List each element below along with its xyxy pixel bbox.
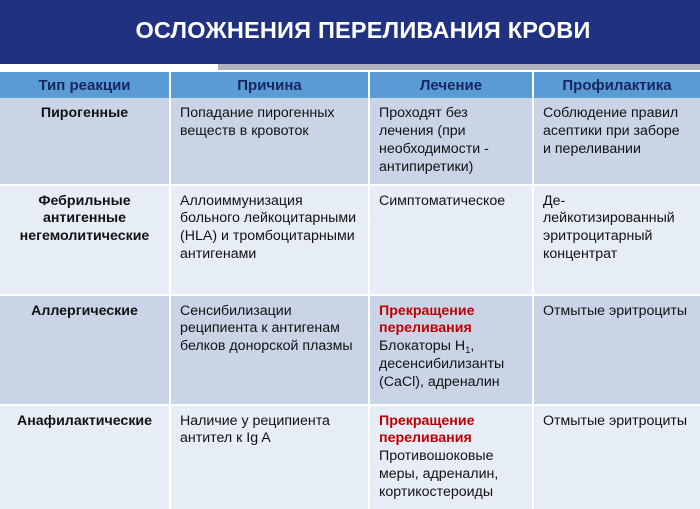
cell-cause: Попадание пирогенных веществ в кровоток: [170, 98, 369, 185]
cell-prevention: Соблюдение правил асептики при заборе и …: [533, 98, 700, 185]
cell-treatment: Проходят без лечения (при необходимости …: [369, 98, 533, 185]
subscript-one: 1: [465, 345, 470, 356]
cell-treatment-emphasis: Прекращение переливания: [379, 413, 523, 449]
cell-cause: Наличие у реципиента антител к Ig A: [170, 405, 369, 509]
cell-prevention: Отмытые эритроциты: [533, 405, 700, 509]
cell-treatment: Прекращение переливания Блокаторы Н1, де…: [369, 295, 533, 405]
table-row: Аллергические Сенсибилизации реципиента …: [0, 295, 700, 405]
column-header-treatment[interactable]: Лечение: [369, 72, 533, 98]
title-banner: ОСЛОЖНЕНИЯ ПЕРЕЛИВАНИЯ КРОВИ: [0, 0, 700, 64]
slide-canvas: ОСЛОЖНЕНИЯ ПЕРЕЛИВАНИЯ КРОВИ Тип реакции…: [0, 0, 700, 508]
table-row: Фебрильные антигенные негемолитические А…: [0, 185, 700, 295]
cell-treatment-emphasis: Прекращение переливания: [379, 303, 523, 339]
complications-table: Тип реакции Причина Лечение Профилактика…: [0, 72, 700, 509]
table-row: Пирогенные Попадание пирогенных веществ …: [0, 98, 700, 185]
cell-cause: Аллоиммунизация больного лейкоцитарными …: [170, 185, 369, 295]
cell-treatment-text: Противошоковые меры, адреналин, кортикос…: [379, 448, 523, 502]
cell-treatment: Симптоматическое: [369, 185, 533, 295]
column-header-cause[interactable]: Причина: [170, 72, 369, 98]
cell-prevention: Отмытые эритроциты: [533, 295, 700, 405]
cell-cause: Сенсибилизации реципиента к антигенам бе…: [170, 295, 369, 405]
page-title: ОСЛОЖНЕНИЯ ПЕРЕЛИВАНИЯ КРОВИ: [135, 17, 590, 44]
column-header-type[interactable]: Тип реакции: [0, 72, 170, 98]
table-row: Анафилактические Наличие у реципиента ан…: [0, 405, 700, 509]
table-header-row: Тип реакции Причина Лечение Профилактика: [0, 72, 700, 98]
cell-reaction-type: Аллергические: [0, 295, 170, 405]
cell-reaction-type: Пирогенные: [0, 98, 170, 185]
cell-reaction-type: Анафилактические: [0, 405, 170, 509]
cell-treatment-text: Блокаторы Н1, десенсибилизанты (CaCl), а…: [379, 338, 523, 392]
cell-treatment-text: Проходят без лечения (при необходимости …: [379, 105, 523, 177]
cell-reaction-type: Фебрильные антигенные негемолитические: [0, 185, 170, 295]
cell-treatment-text: Симптоматическое: [379, 193, 523, 211]
column-header-prevention[interactable]: Профилактика: [533, 72, 700, 98]
cell-treatment: Прекращение переливания Противошоковые м…: [369, 405, 533, 509]
cell-prevention: Де-лейкотизированный эритроцитарный конц…: [533, 185, 700, 295]
